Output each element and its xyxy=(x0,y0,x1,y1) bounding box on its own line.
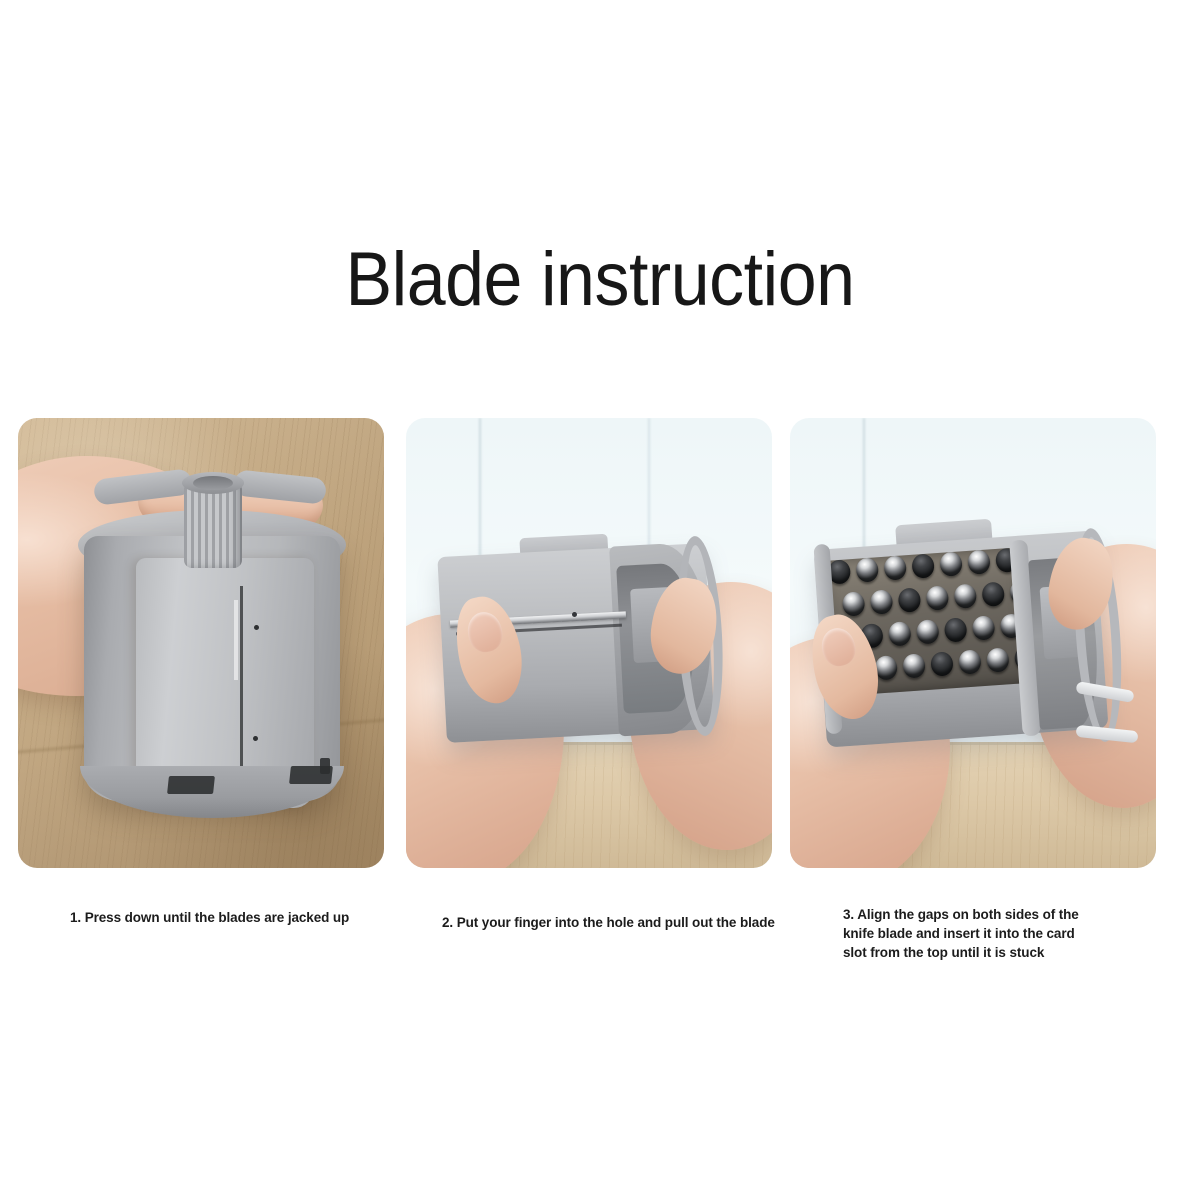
grater-hole xyxy=(926,585,950,610)
drum-post-hole xyxy=(193,476,233,490)
step-image-3 xyxy=(790,418,1156,868)
step-caption-1: 1. Press down until the blades are jacke… xyxy=(70,908,420,927)
drum-pin-hole xyxy=(572,612,577,617)
step-caption-3: 3. Align the gaps on both sides of the k… xyxy=(843,905,1093,962)
drum-slot xyxy=(320,758,330,774)
grater-hole xyxy=(911,553,935,578)
grater-hole xyxy=(981,582,1005,607)
grater-hole xyxy=(855,557,879,582)
grater-hole xyxy=(888,621,912,646)
caption-line: 2. Put your finger into the hole and pul… xyxy=(442,913,792,932)
grater-hole xyxy=(972,615,996,640)
drum-center-post xyxy=(184,482,242,568)
grater-hole xyxy=(986,647,1010,672)
step-image-2 xyxy=(406,418,772,868)
step-3-scene xyxy=(790,418,1156,868)
grater-hole xyxy=(902,653,926,678)
caption-line: knife blade and insert it into the card xyxy=(843,924,1093,943)
drum-seam xyxy=(240,586,243,782)
grater-hole xyxy=(870,589,894,614)
grater-hole xyxy=(967,549,991,574)
drum-pin-hole xyxy=(253,736,258,741)
step-1-scene xyxy=(18,418,384,868)
grater-hole xyxy=(953,583,977,608)
step-image-1 xyxy=(18,418,384,868)
grater-hole xyxy=(883,555,907,580)
grater-hole xyxy=(842,591,866,616)
page-title: Blade instruction xyxy=(48,238,1152,322)
grater-hole xyxy=(916,619,940,644)
caption-line: 3. Align the gaps on both sides of the xyxy=(843,905,1093,924)
grater-hole xyxy=(898,587,922,612)
step-2-scene xyxy=(406,418,772,868)
drum-seam-highlight xyxy=(234,600,238,680)
grater-hole xyxy=(930,651,954,676)
caption-line: 1. Press down until the blades are jacke… xyxy=(70,908,420,927)
grater-hole xyxy=(944,617,968,642)
drum-slot xyxy=(167,776,215,794)
caption-line: slot from the top until it is stuck xyxy=(843,943,1093,962)
step-caption-2: 2. Put your finger into the hole and pul… xyxy=(442,913,792,932)
drum-pin-hole xyxy=(254,625,259,630)
grater-hole xyxy=(939,551,963,576)
instruction-panels xyxy=(0,418,1200,868)
grater-hole xyxy=(958,649,982,674)
